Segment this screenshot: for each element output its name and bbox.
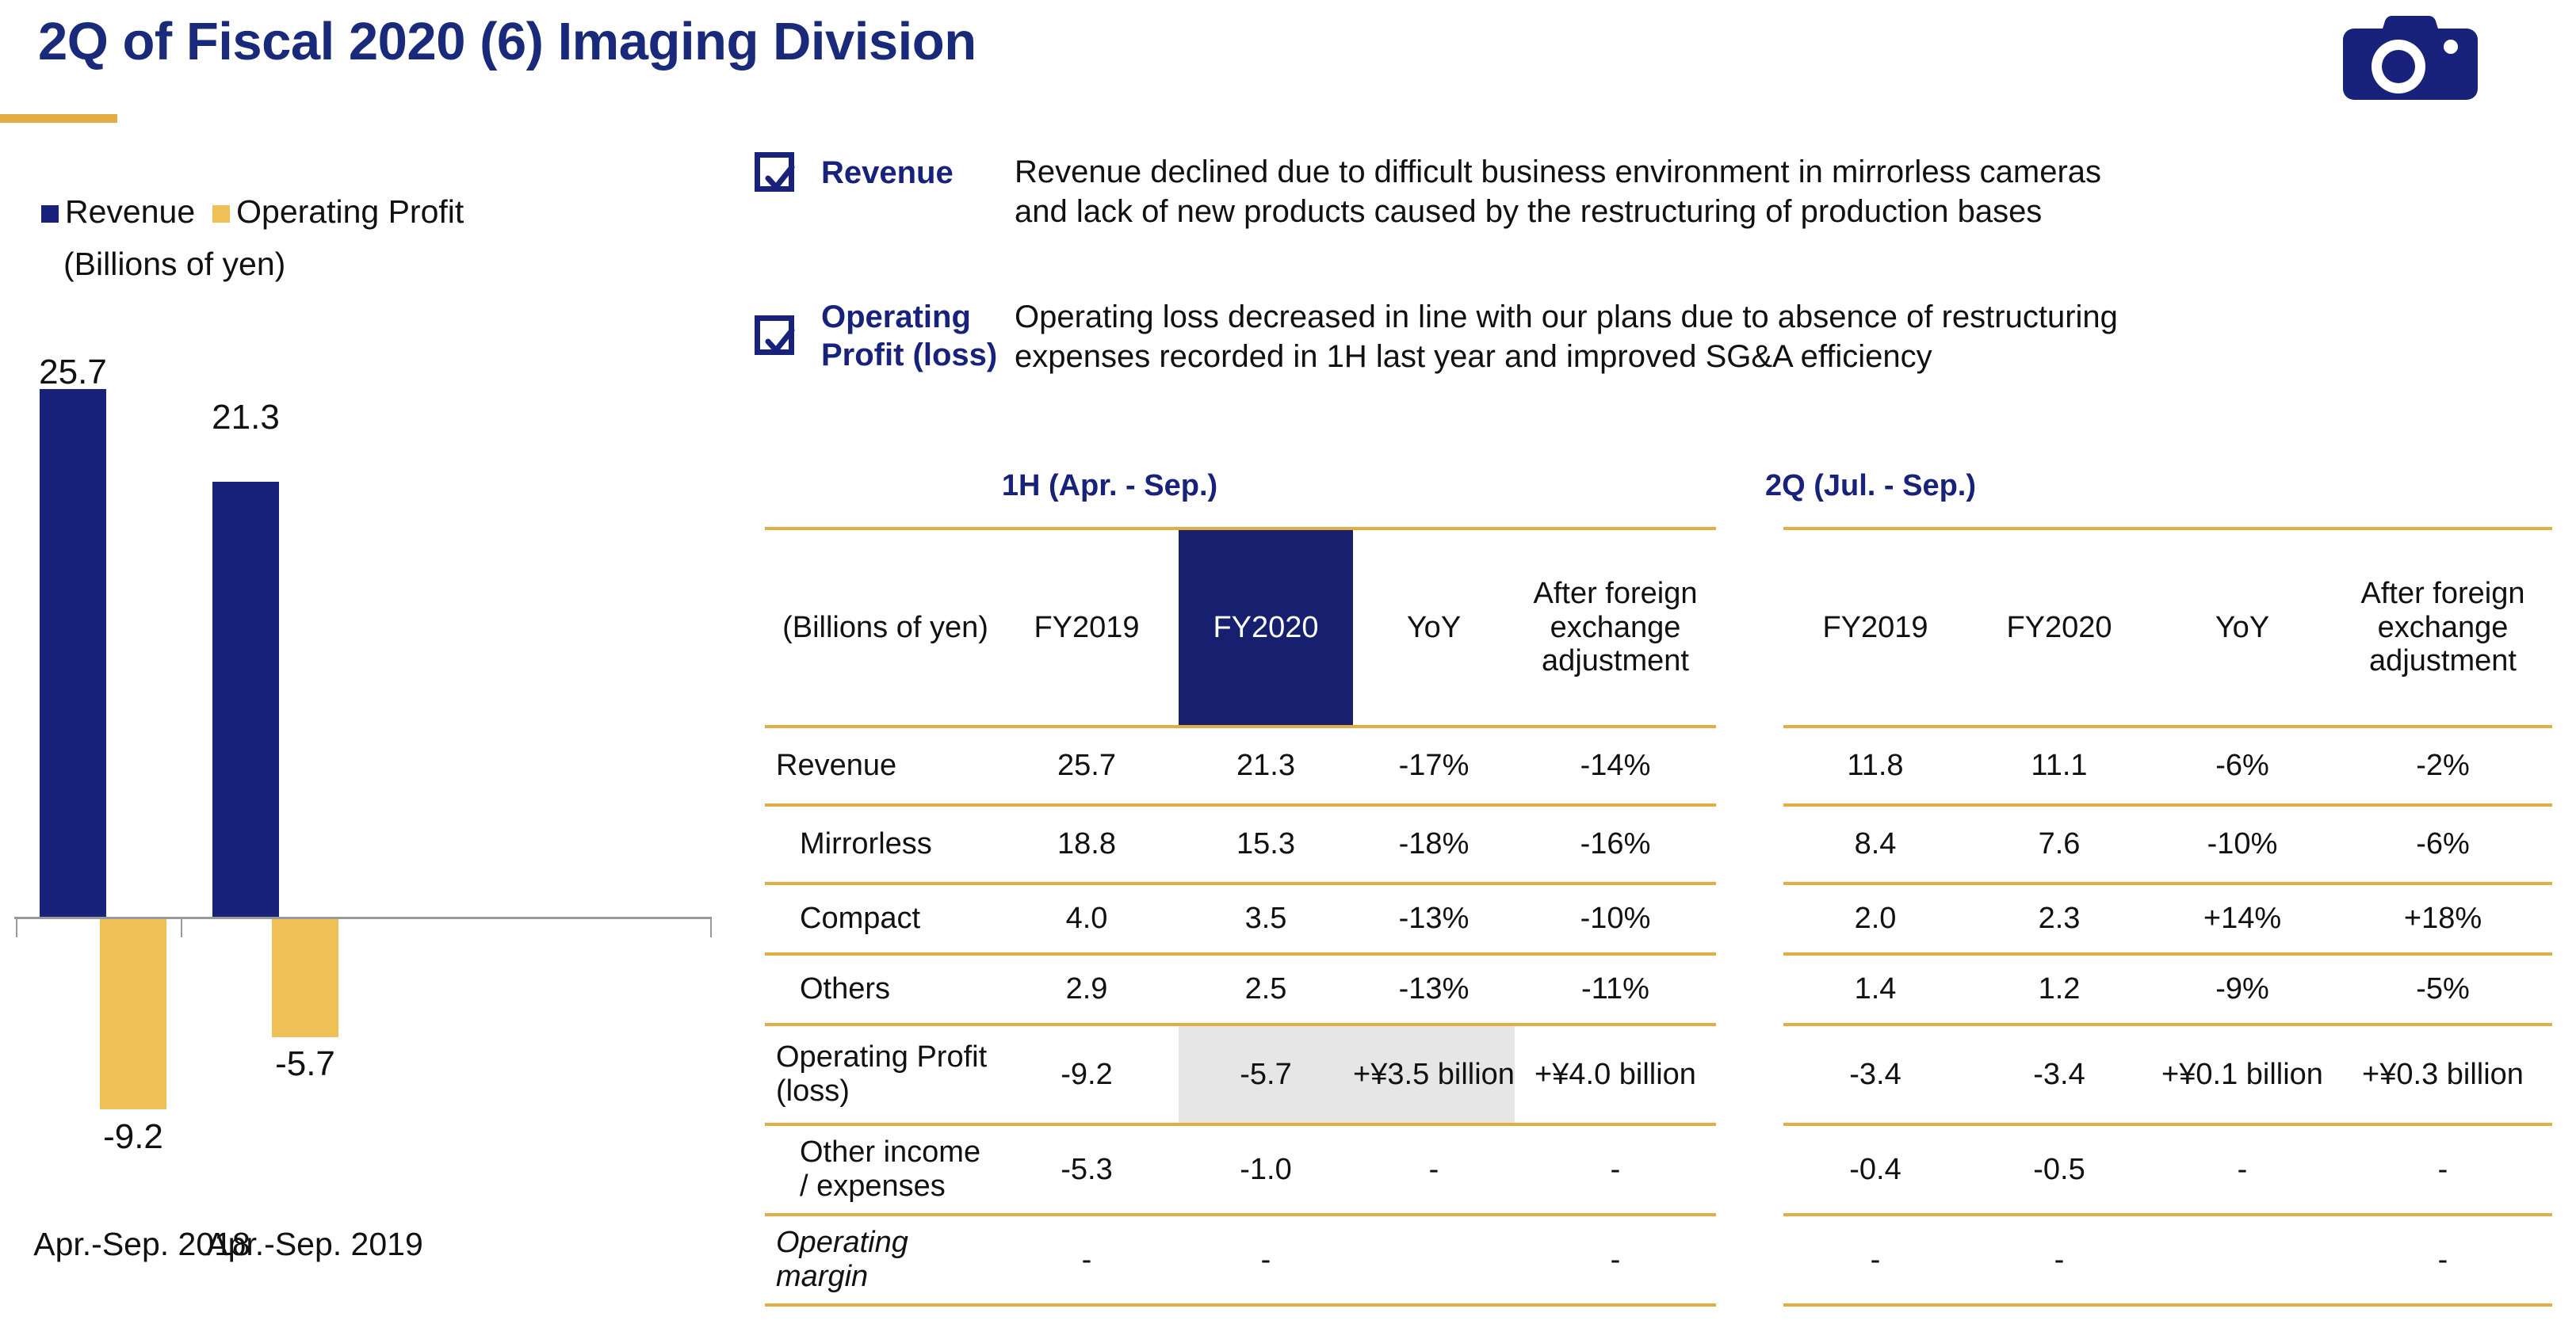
table-row: 2.0 2.3 +14% +18%	[1783, 883, 2552, 954]
table-row: Operating margin - - -	[765, 1215, 1716, 1305]
cell-value: -11%	[1515, 954, 1716, 1025]
table-1h-apr-sep: (Billions of yen) FY2019 FY2020 YoY Afte…	[765, 527, 1716, 1307]
cell-value: -18%	[1353, 805, 1515, 883]
cell-value: 3.5	[1179, 883, 1353, 954]
cell-value: 25.7	[995, 727, 1179, 805]
table-row: Operating Profit (loss) -9.2 -5.7 +¥3.5 …	[765, 1025, 1716, 1124]
cell-value: -0.4	[1783, 1124, 1967, 1215]
table-row-header: FY2019 FY2020 YoY After foreign exchange…	[1783, 529, 2552, 727]
financial-tables: 1H (Apr. - Sep.) 2Q (Jul. - Sep.) (Billi…	[0, 0, 2576, 1328]
cell-col-header-fy2020: FY2020	[1179, 529, 1353, 727]
table-row: Mirrorless 18.8 15.3 -18% -16%	[765, 805, 1716, 883]
cell-value: +18%	[2333, 883, 2552, 954]
cell-value: -1.0	[1179, 1124, 1353, 1215]
cell-value: -10%	[2151, 805, 2333, 883]
cell-value: -17%	[1353, 727, 1515, 805]
cell-value: +¥4.0 billion	[1515, 1025, 1716, 1124]
cell-row-label-header: (Billions of yen)	[765, 529, 995, 727]
cell-value: -	[995, 1215, 1179, 1305]
table-row-header: (Billions of yen) FY2019 FY2020 YoY Afte…	[765, 529, 1716, 727]
cell-value: -0.5	[1967, 1124, 2151, 1215]
cell-value: 4.0	[995, 883, 1179, 954]
cell-value: 2.3	[1967, 883, 2151, 954]
cell-label: Others	[765, 954, 995, 1025]
cell-value: -	[1783, 1215, 1967, 1305]
cell-value: -	[2333, 1124, 2552, 1215]
cell-value: -	[2151, 1124, 2333, 1215]
cell-value: +14%	[2151, 883, 2333, 954]
table-group-title-2q: 2Q (Jul. - Sep.)	[1633, 469, 2108, 503]
cell-value: 21.3	[1179, 727, 1353, 805]
cell-value: 2.5	[1179, 954, 1353, 1025]
cell-value: -9%	[2151, 954, 2333, 1025]
cell-value	[2151, 1215, 2333, 1305]
cell-value: 7.6	[1967, 805, 2151, 883]
cell-value: -	[1353, 1124, 1515, 1215]
table-row: Compact 4.0 3.5 -13% -10%	[765, 883, 1716, 954]
cell-value: 2.0	[1783, 883, 1967, 954]
cell-value: -	[1515, 1215, 1716, 1305]
cell-label: Revenue	[765, 727, 995, 805]
table-row: - - -	[1783, 1215, 2552, 1305]
cell-value: 15.3	[1179, 805, 1353, 883]
cell-value: -	[1179, 1215, 1353, 1305]
table-row: Others 2.9 2.5 -13% -11%	[765, 954, 1716, 1025]
cell-label: Operating margin	[765, 1215, 995, 1305]
cell-label: Compact	[765, 883, 995, 954]
cell-value: 18.8	[995, 805, 1179, 883]
cell-value: -3.4	[1967, 1025, 2151, 1124]
cell-value: +¥0.1 billion	[2151, 1025, 2333, 1124]
cell-value: -	[2333, 1215, 2552, 1305]
cell-value: -9.2	[995, 1025, 1179, 1124]
table-row: Revenue 25.7 21.3 -17% -14%	[765, 727, 1716, 805]
cell-value: 8.4	[1783, 805, 1967, 883]
cell-col-header-fy2020: FY2020	[1967, 529, 2151, 727]
cell-value: 1.2	[1967, 954, 2151, 1025]
table-2q-jul-sep: FY2019 FY2020 YoY After foreign exchange…	[1783, 527, 2552, 1307]
table-row: Other income / expenses -5.3 -1.0 - -	[765, 1124, 1716, 1215]
cell-value: -13%	[1353, 954, 1515, 1025]
cell-value: -16%	[1515, 805, 1716, 883]
cell-value: -6%	[2151, 727, 2333, 805]
cell-label: Other income / expenses	[765, 1124, 995, 1215]
cell-value: 11.8	[1783, 727, 1967, 805]
cell-value: 11.1	[1967, 727, 2151, 805]
cell-value: -2%	[2333, 727, 2552, 805]
cell-value: +¥0.3 billion	[2333, 1025, 2552, 1124]
cell-label: Mirrorless	[765, 805, 995, 883]
cell-col-header-after-fx: After foreign exchange adjustment	[1515, 529, 1716, 727]
table-row: 11.8 11.1 -6% -2%	[1783, 727, 2552, 805]
cell-col-header-yoy: YoY	[2151, 529, 2333, 727]
cell-value: -14%	[1515, 727, 1716, 805]
cell-col-header-after-fx: After foreign exchange adjustment	[2333, 529, 2552, 727]
cell-value: -6%	[2333, 805, 2552, 883]
cell-col-header-fy2019: FY2019	[1783, 529, 1967, 727]
cell-value	[1353, 1215, 1515, 1305]
cell-label: Operating Profit (loss)	[765, 1025, 995, 1124]
cell-value: +¥3.5 billion	[1353, 1025, 1515, 1124]
table-group-title-1h: 1H (Apr. - Sep.)	[935, 469, 1284, 503]
table-row: 1.4 1.2 -9% -5%	[1783, 954, 2552, 1025]
cell-value: -13%	[1353, 883, 1515, 954]
cell-value: -5%	[2333, 954, 2552, 1025]
cell-col-header-fy2019: FY2019	[995, 529, 1179, 727]
cell-value: -5.7	[1179, 1025, 1353, 1124]
cell-value: 2.9	[995, 954, 1179, 1025]
table-row: -0.4 -0.5 - -	[1783, 1124, 2552, 1215]
cell-col-header-yoy: YoY	[1353, 529, 1515, 727]
cell-value: -	[1967, 1215, 2151, 1305]
cell-value: -5.3	[995, 1124, 1179, 1215]
cell-value: -10%	[1515, 883, 1716, 954]
cell-value: 1.4	[1783, 954, 1967, 1025]
cell-value: -	[1515, 1124, 1716, 1215]
table-row: -3.4 -3.4 +¥0.1 billion +¥0.3 billion	[1783, 1025, 2552, 1124]
cell-value: -3.4	[1783, 1025, 1967, 1124]
table-row: 8.4 7.6 -10% -6%	[1783, 805, 2552, 883]
